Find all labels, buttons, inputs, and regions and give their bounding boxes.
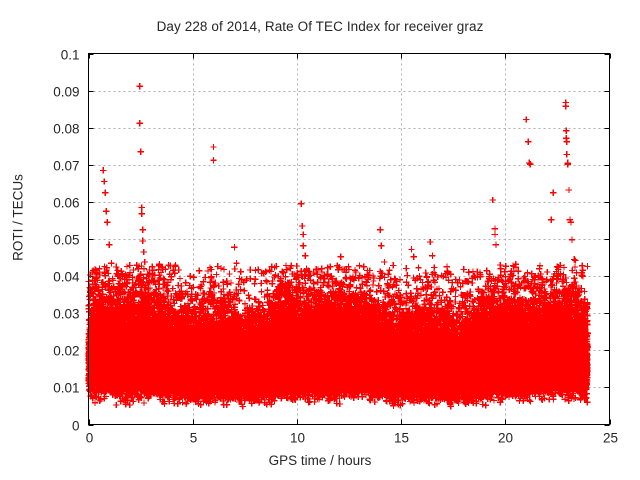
x-tick-label: 25 <box>603 431 618 446</box>
y-tick-label: 0.07 <box>53 159 79 174</box>
chart-figure: Day 228 of 2014, Rate Of TEC Index for r… <box>0 0 640 480</box>
y-tick-label: 0.04 <box>53 270 80 285</box>
y-tick-label: 0.05 <box>53 233 79 248</box>
x-tick-labels: 0510152025 <box>86 431 618 446</box>
y-tick-label: 0.1 <box>61 48 80 63</box>
y-tick-label: 0.08 <box>53 122 79 137</box>
y-tick-label: 0.03 <box>53 307 79 322</box>
x-tick-label: 5 <box>190 431 198 446</box>
y-tick-label: 0.01 <box>53 381 79 396</box>
plot-canvas: 0510152025 00.010.020.030.040.050.060.07… <box>0 0 640 480</box>
y-tick-label: 0 <box>72 419 80 434</box>
x-tick-label: 0 <box>86 431 94 446</box>
data-points <box>85 83 591 410</box>
y-tick-label: 0.09 <box>53 85 79 100</box>
y-tick-label: 0.06 <box>53 196 79 211</box>
y-tick-label: 0.02 <box>53 344 79 359</box>
x-tick-label: 15 <box>394 431 409 446</box>
x-tick-label: 10 <box>290 431 305 446</box>
y-tick-labels: 00.010.020.030.040.050.060.070.080.090.1 <box>53 48 80 434</box>
x-tick-label: 20 <box>498 431 513 446</box>
